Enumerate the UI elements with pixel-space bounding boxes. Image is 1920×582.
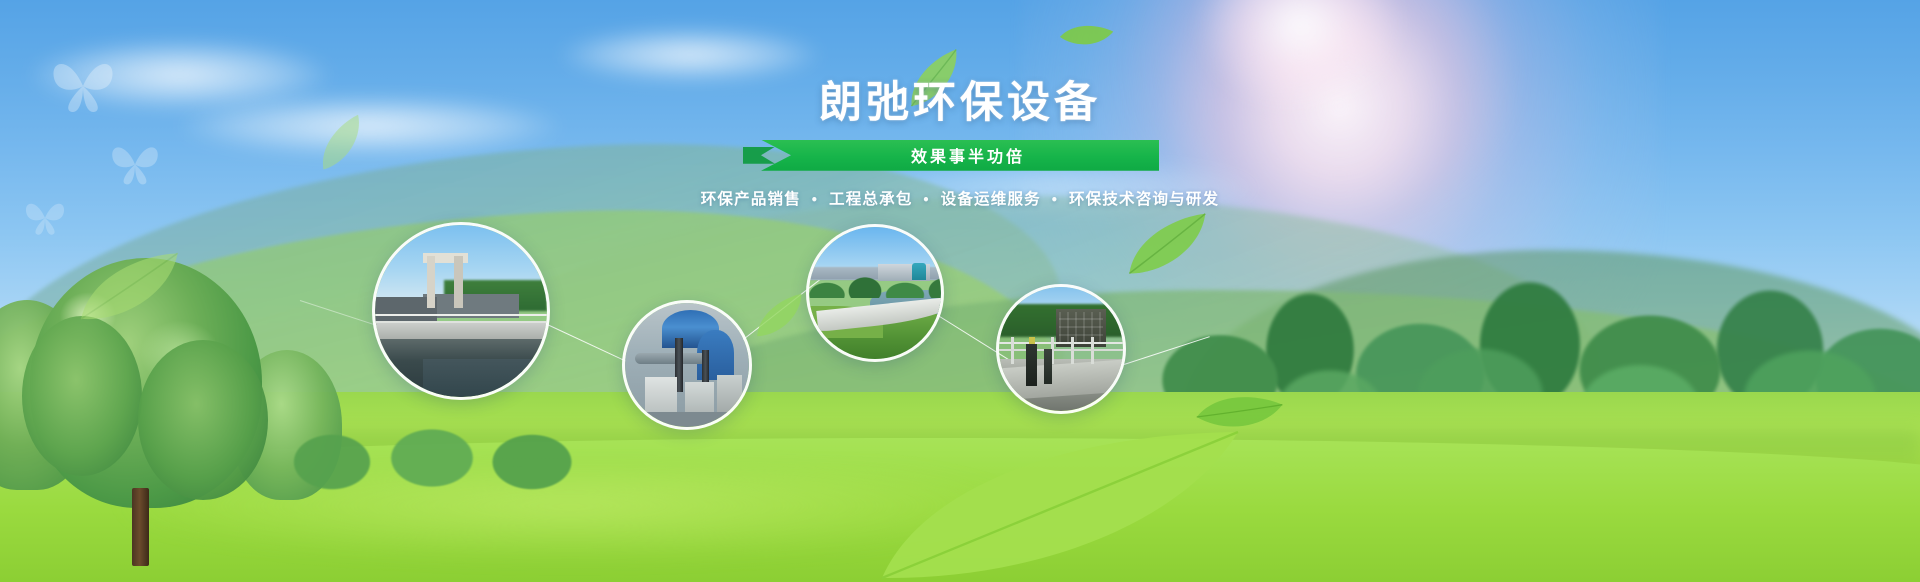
service-separator-0: •	[808, 193, 823, 207]
bush-row	[282, 418, 612, 500]
photo-plant-aerial[interactable]	[806, 224, 944, 362]
tagline-ribbon: 效果事半功倍	[761, 140, 1159, 171]
service-separator-1: •	[919, 193, 934, 207]
service-separator-2: •	[1047, 193, 1062, 207]
service-item-0: 环保产品销售	[701, 190, 801, 208]
service-item-1: 工程总承包	[829, 190, 913, 208]
eco-equipment-banner: 朗弛环保设备 效果事半功倍 环保产品销售 • 工程总承包 • 设备运维服务 • …	[0, 0, 1920, 582]
tree-trunk	[132, 488, 149, 566]
tree-crown-right	[138, 340, 268, 500]
ribbon-label: 效果事半功倍	[761, 140, 1159, 171]
photo-equipment-walkway[interactable]	[996, 284, 1126, 414]
service-item-2: 设备运维服务	[941, 190, 1041, 208]
photo-wastewater-basin[interactable]	[372, 222, 550, 400]
banner-text-block: 朗弛环保设备 效果事半功倍 环保产品销售 • 工程总承包 • 设备运维服务 • …	[0, 78, 1920, 209]
service-item-3: 环保技术咨询与研发	[1069, 190, 1219, 208]
services-list: 环保产品销售 • 工程总承包 • 设备运维服务 • 环保技术咨询与研发	[0, 187, 1920, 209]
tree-main	[22, 258, 272, 558]
banner-headline: 朗弛环保设备	[0, 78, 1920, 129]
photo-pump-machinery[interactable]	[622, 300, 752, 430]
tree-crown-left	[22, 316, 142, 476]
